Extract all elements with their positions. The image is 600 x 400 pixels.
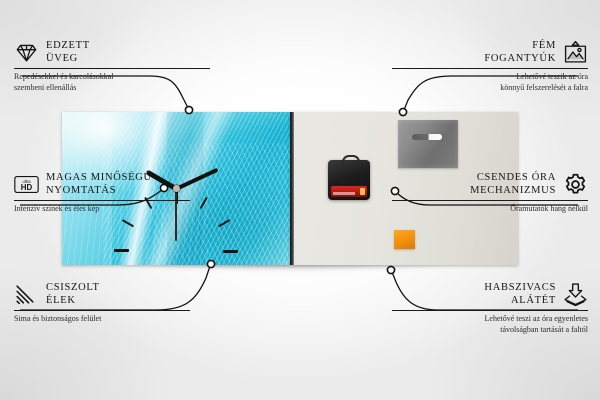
feature-high-quality-print: ultra HD MAGAS MINŐSÉGŰ NYOMTATÁS Intenz… <box>14 172 190 215</box>
feature-title-line1: FÉM <box>484 40 556 53</box>
feature-title: HABSZIVACS ALÁTÉT <box>484 282 556 307</box>
feature-desc-line1: Sima és biztonságos felület <box>14 314 190 325</box>
ultra-hd-icon: ultra HD <box>14 172 39 197</box>
diamond-icon <box>14 40 39 65</box>
feature-title-line1: HABSZIVACS <box>484 282 556 295</box>
feature-heading: ultra HD MAGAS MINŐSÉGŰ NYOMTATÁS <box>14 172 190 197</box>
feature-title-line1: CSISZOLT <box>46 282 100 295</box>
feature-description: Lehetővé teszik az óra könnyű felszerelé… <box>392 72 588 93</box>
feature-polished-edges: CSISZOLT ÉLEK Sima és biztonságos felüle… <box>14 282 190 325</box>
feature-desc-line2: távolságban tartását a faltól <box>392 325 588 336</box>
svg-text:HD: HD <box>21 183 33 192</box>
feature-heading: CSENDES ÓRA MECHANIZMUS <box>392 172 588 197</box>
feature-desc-line1: Lehetővé teszik az óra <box>392 72 588 83</box>
feature-heading: FÉM FOGANTYÚK <box>392 40 588 65</box>
feature-desc-line1: Repedésekkel és karcolásokkal <box>14 72 210 83</box>
gear-icon <box>563 172 588 197</box>
clock-tick <box>114 250 176 252</box>
divider <box>14 200 190 201</box>
feature-title-line2: MECHANIZMUS <box>470 185 556 198</box>
feature-title-line2: FOGANTYÚK <box>484 53 556 66</box>
divider <box>14 310 190 311</box>
feature-description: Lehetővé teszi az óra egyenletes távolsá… <box>392 314 588 335</box>
feature-desc-line1: Lehetővé teszi az óra egyenletes <box>392 314 588 325</box>
feature-title: FÉM FOGANTYÚK <box>484 40 556 65</box>
battery <box>331 186 367 197</box>
feature-title-line2: NYOMTATÁS <box>46 185 152 198</box>
feature-title-line2: ÜVEG <box>46 53 90 66</box>
feature-title-line1: CSENDES ÓRA <box>470 172 556 185</box>
feature-desc-line1: Óramutatók hang nélkül <box>392 204 588 215</box>
feature-title: CSISZOLT ÉLEK <box>46 282 100 307</box>
feature-title-line2: ALÁTÉT <box>484 295 556 308</box>
clock-tick <box>176 250 238 252</box>
hanger-slot <box>412 134 442 140</box>
divider <box>392 68 588 69</box>
feature-heading: CSISZOLT ÉLEK <box>14 282 190 307</box>
foam-pad-arrow-icon <box>563 282 588 307</box>
infographic-canvas: EDZETT ÜVEG Repedésekkel és karcolásokka… <box>0 0 600 400</box>
feature-title-line1: MAGAS MINŐSÉGŰ <box>46 172 152 185</box>
metal-hanger-plate <box>398 120 458 168</box>
feature-description: Repedésekkel és karcolásokkal szembeni e… <box>14 72 210 93</box>
divider <box>392 310 588 311</box>
feature-tempered-glass: EDZETT ÜVEG Repedésekkel és karcolásokka… <box>14 40 210 93</box>
picture-frame-hanger-icon <box>563 40 588 65</box>
feature-metal-hangers: FÉM FOGANTYÚK Lehetővé teszik az óra kön… <box>392 40 588 93</box>
feature-heading: EDZETT ÜVEG <box>14 40 210 65</box>
feature-title: EDZETT ÜVEG <box>46 40 90 65</box>
feature-title: MAGAS MINŐSÉGŰ NYOMTATÁS <box>46 172 152 197</box>
feature-title-line1: EDZETT <box>46 40 90 53</box>
feature-foam-pad: HABSZIVACS ALÁTÉT Lehetővé teszi az óra … <box>392 282 588 335</box>
feature-desc-line1: Intenzív színek és éles kép <box>14 204 190 215</box>
divider <box>392 200 588 201</box>
feature-description: Sima és biztonságos felület <box>14 314 190 325</box>
feature-desc-line2: könnyű felszerelését a falra <box>392 83 588 94</box>
clock-movement <box>328 160 370 200</box>
polished-edges-icon <box>14 282 39 307</box>
feature-heading: HABSZIVACS ALÁTÉT <box>392 282 588 307</box>
feature-description: Intenzív színek és éles kép <box>14 204 190 215</box>
foam-pad <box>394 230 415 249</box>
feature-desc-line2: szembeni ellenállás <box>14 83 210 94</box>
feature-silent-mechanism: CSENDES ÓRA MECHANIZMUS Óramutatók hang … <box>392 172 588 215</box>
movement-hook <box>342 155 360 166</box>
feature-title: CSENDES ÓRA MECHANIZMUS <box>470 172 556 197</box>
feature-description: Óramutatók hang nélkül <box>392 204 588 215</box>
divider <box>14 68 210 69</box>
panel-edge-seam <box>290 112 294 265</box>
feature-title-line2: ÉLEK <box>46 295 100 308</box>
